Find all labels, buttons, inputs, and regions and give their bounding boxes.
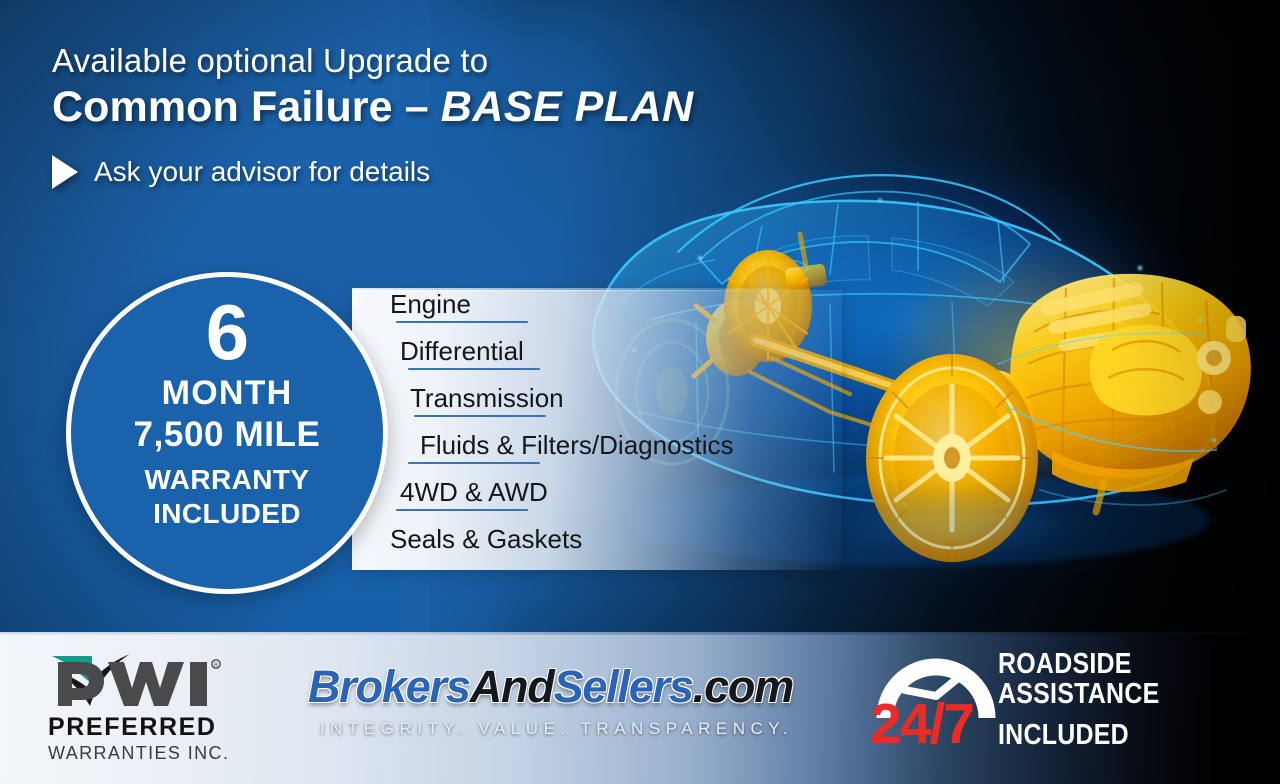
pwi-line-2: WARRANTIES INC. [48, 744, 248, 762]
coverage-item-label: 4WD & AWD [400, 478, 822, 506]
list-item: Differential [352, 337, 822, 384]
coverage-item-rule [414, 415, 546, 417]
coverage-item-label: Differential [400, 337, 822, 365]
coverage-item-rule [408, 368, 540, 370]
coverage-item-label: Seals & Gaskets [390, 525, 822, 553]
coverage-item-label: Engine [390, 290, 822, 318]
svg-text:R: R [214, 663, 219, 669]
headline-block: Available optional Upgrade to Common Fai… [52, 42, 812, 189]
coverage-list: Engine Differential Transmission Fluids … [352, 286, 822, 574]
play-triangle-icon [52, 155, 78, 189]
list-item: Transmission [352, 384, 822, 431]
brokers-part-1: Brokers [308, 661, 470, 712]
pwi-logo[interactable]: R PREFERRED WARRANTIES INC. [48, 650, 248, 768]
headline-line-1: Available optional Upgrade to [52, 42, 812, 80]
brokers-tagline: INTEGRITY. VALUE. TRANSPARENCY. [320, 719, 808, 739]
badge-term-number: 6 [206, 297, 248, 369]
list-item: 4WD & AWD [352, 478, 822, 525]
promo-banner: Available optional Upgrade to Common Fai… [0, 0, 1280, 784]
brokers-part-4: .com [693, 661, 793, 712]
headline-plan-name: BASE PLAN [441, 83, 694, 131]
brokers-part-2: And [470, 661, 554, 712]
brokers-part-3: Sellers [554, 661, 693, 712]
list-item: Engine [352, 290, 822, 337]
brokers-and-sellers-logo[interactable]: BrokersAndSellers.com INTEGRITY. VALUE. … [308, 664, 808, 764]
coverage-item-label: Transmission [410, 384, 822, 412]
headline-line-2-prefix: Common Failure – [52, 83, 441, 131]
roadside-hours: 24/7 [870, 696, 973, 753]
advisor-cta[interactable]: Ask your advisor for details [52, 155, 812, 189]
pwi-wordmark: R [48, 650, 228, 712]
roadside-text: ROADSIDE ASSISTANCE INCLUDED [998, 650, 1260, 751]
roadside-line-2: INCLUDED [998, 721, 1223, 751]
advisor-cta-label: Ask your advisor for details [94, 156, 430, 188]
badge-mileage: 7,500 MILE [134, 415, 321, 455]
roadside-assistance-block: 24/7 ROADSIDE ASSISTANCE INCLUDED [870, 638, 1260, 763]
coverage-item-rule [396, 321, 528, 323]
footer-top-divider [0, 632, 1280, 635]
badge-warranty-label: WARRANTY [145, 463, 310, 497]
headline-line-2: Common Failure – BASE PLAN [52, 82, 812, 133]
coverage-item-rule [396, 509, 528, 511]
warranty-badge: 6 MONTH 7,500 MILE WARRANTY INCLUDED [66, 272, 388, 594]
list-item: Seals & Gaskets [352, 525, 822, 572]
pwi-line-1: PREFERRED [48, 715, 248, 740]
coverage-item-rule [408, 462, 540, 464]
roadside-line-1: ROADSIDE ASSISTANCE [998, 650, 1223, 709]
brokers-wordmark: BrokersAndSellers.com [308, 664, 808, 709]
list-item: Fluids & Filters/Diagnostics [352, 431, 822, 478]
coverage-item-label: Fluids & Filters/Diagnostics [420, 431, 822, 459]
badge-term-unit: MONTH [162, 373, 293, 413]
pwi-checkmark-logo-icon: R [48, 650, 228, 712]
badge-included-label: INCLUDED [153, 497, 301, 531]
